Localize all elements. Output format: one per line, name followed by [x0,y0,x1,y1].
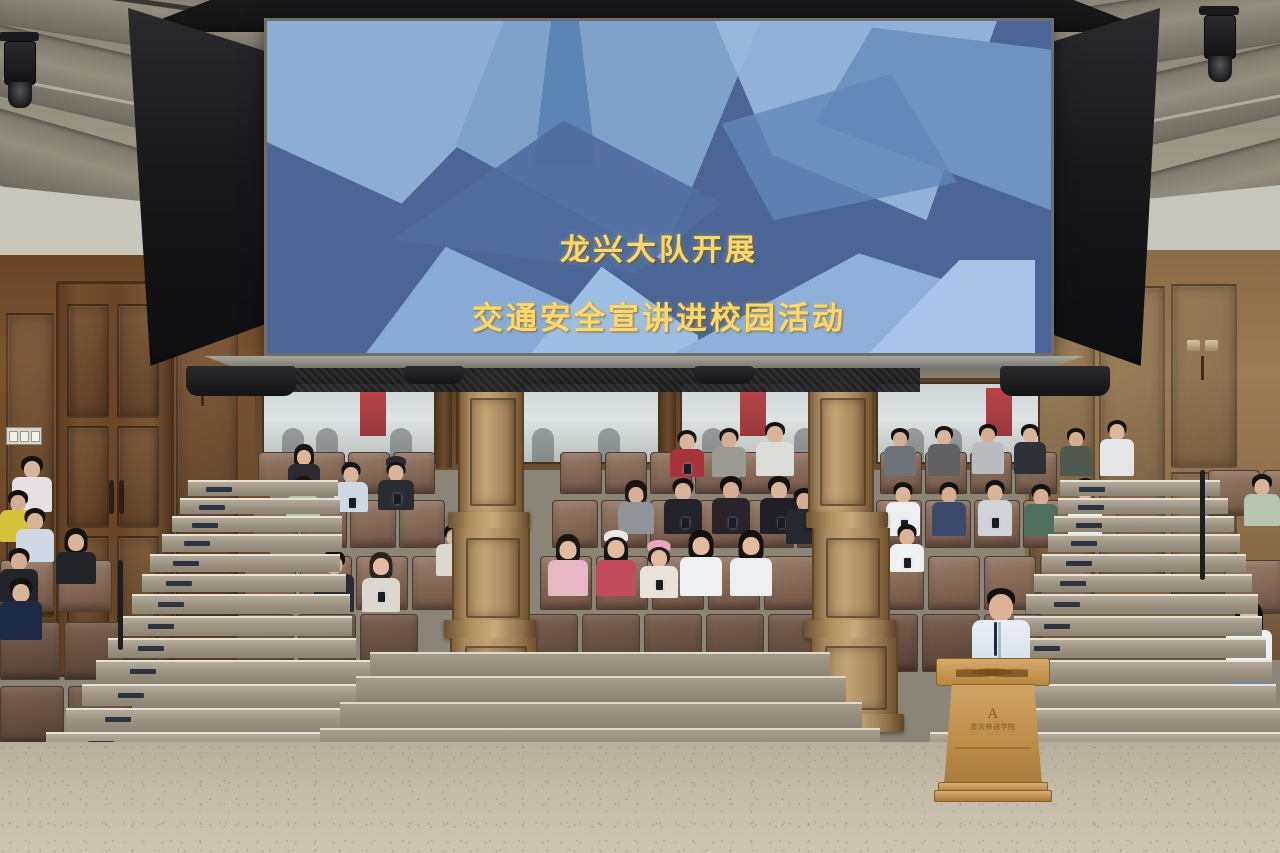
ceiling-speaker [1000,366,1110,396]
stage-edge [356,676,846,702]
audience-member [712,476,750,534]
auditorium-floor [0,742,1280,853]
presentation-screen[interactable]: 龙兴大队开展 交通安全宣讲进校园活动 渝北区交巡警支队龙兴大队 2025.4.1… [267,21,1051,353]
overhead-led-screen-rig: 龙兴大队开展 交通安全宣讲进校园活动 渝北区交巡警支队龙兴大队 2025.4.1… [0,0,1280,400]
wood-pillar [452,528,530,624]
audience-member [664,478,702,534]
audience-member [978,480,1012,536]
podium-emblem-mark: A [953,707,1033,722]
audience-member [670,430,704,476]
podium-front: A 重庆移通学院 [944,684,1042,786]
audience-member [640,540,678,598]
screen-frame: 龙兴大队开展 交通安全宣讲进校园活动 渝北区交巡警支队龙兴大队 2025.4.1… [264,18,1054,356]
wood-pillar [808,386,874,514]
audience-member [1244,474,1280,526]
audience-member [1024,484,1058,536]
audience-member [756,422,794,476]
door-handle-icon[interactable] [119,480,124,514]
pillar-capital [804,620,896,638]
pillar-capital [444,620,536,638]
stage-edge [370,652,830,676]
audience-member [1060,428,1092,476]
audience-member [884,428,916,476]
handrail[interactable] [1200,470,1205,580]
audience-member [618,480,654,534]
stage-edge [340,702,862,728]
slide-title-line-2: 交通安全宣讲进校园活动 [267,293,1051,338]
audience-member [1100,420,1134,476]
slide-title-line-1: 龙兴大队开展 [267,225,1051,269]
handrail[interactable] [118,560,123,650]
audience-member [0,578,42,640]
audience-member [596,530,636,596]
light-switch-plate[interactable] [6,427,42,445]
audience-member [712,428,746,476]
slide-text-block: 龙兴大队开展 交通安全宣讲进校园活动 渝北区交巡警支队龙兴大队 2025.4.1… [267,21,1051,353]
podium-plinth [934,790,1052,802]
pillar-capital [806,512,888,528]
audience-member [928,426,960,476]
screen-grille [280,368,920,392]
audience-member [932,482,966,536]
auditorium-photo: A 重庆移通学院 [0,0,1280,853]
audience-member [730,530,772,596]
podium-emblem: A 重庆移通学院 [953,707,1033,732]
microphone [994,622,997,656]
podium-carving [956,666,1028,678]
wood-pillar [458,386,524,514]
pillar-capital [448,512,530,528]
audience-member [972,424,1004,474]
door-handle-icon[interactable] [109,480,114,514]
ceiling-speaker [694,366,754,384]
audience-member [548,534,588,596]
podium: A 重庆移通学院 [936,658,1048,800]
wood-pillar [812,528,890,624]
audience-member [680,530,722,596]
ceiling-speaker [404,366,464,384]
audience-member [1014,424,1046,474]
ceiling-speaker [186,366,296,396]
audience-member [378,456,414,510]
audience-member [890,524,924,572]
podium-emblem-text: 重庆移通学院 [971,723,1016,731]
audience-member [56,528,96,584]
audience-member [362,552,400,612]
